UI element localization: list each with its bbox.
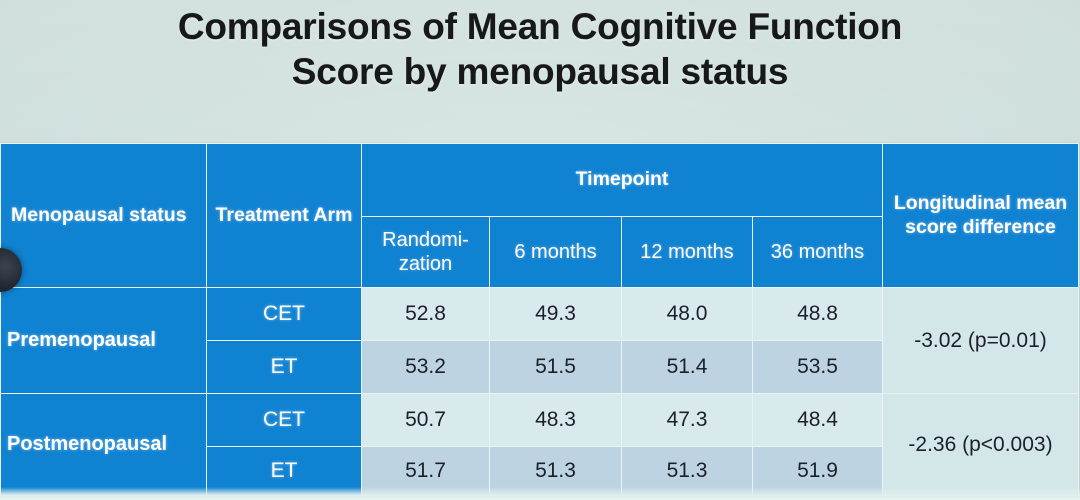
cell-arm-postmenopausal-cet: CET: [207, 394, 362, 447]
cognitive-function-table: Menopausal status Treatment Arm Timepoin…: [0, 143, 1079, 496]
cell-value: 51.9: [753, 447, 883, 496]
cell-difference-premenopausal: -3.02 (p=0.01): [883, 288, 1079, 394]
cell-value: 48.8: [753, 288, 883, 341]
cell-value: 51.4: [622, 341, 753, 394]
cell-value: 48.3: [490, 394, 622, 447]
cell-value: 53.2: [362, 341, 490, 394]
cell-value: 48.4: [753, 394, 883, 447]
cell-value: 52.8: [362, 288, 490, 341]
cognitive-function-table-container: Menopausal status Treatment Arm Timepoin…: [0, 143, 1080, 488]
cell-value: 47.3: [622, 394, 753, 447]
title-line-1: Comparisons of Mean Cognitive Function: [178, 6, 902, 47]
cell-arm-premenopausal-cet: CET: [207, 288, 362, 341]
header-timepoint-12-months: 12 months: [622, 217, 753, 288]
header-longitudinal-difference: Longitudinal mean score difference: [883, 144, 1079, 288]
table-header-row-top: Menopausal status Treatment Arm Timepoin…: [1, 144, 1079, 217]
cell-status-premenopausal: Premenopausal: [1, 288, 207, 394]
slide-title-container: Comparisons of Mean Cognitive Function S…: [0, 4, 1080, 94]
cell-value: 48.0: [622, 288, 753, 341]
cell-value: 51.3: [622, 447, 753, 496]
cell-arm-premenopausal-et: ET: [207, 341, 362, 394]
header-timepoint-randomization: Randomi-zation: [362, 217, 490, 288]
table-row: Premenopausal CET 52.8 49.3 48.0 48.8 -3…: [1, 288, 1079, 341]
cell-arm-postmenopausal-et: ET: [207, 447, 362, 496]
header-timepoint-36-months: 36 months: [753, 217, 883, 288]
cell-value: 50.7: [362, 394, 490, 447]
header-menopausal-status: Menopausal status: [1, 144, 207, 288]
cell-value: 49.3: [490, 288, 622, 341]
header-timepoint-randomization-label: Randomi-zation: [382, 229, 469, 275]
page-title: Comparisons of Mean Cognitive Function S…: [0, 4, 1080, 94]
cell-value: 51.5: [490, 341, 622, 394]
cell-value: 51.7: [362, 447, 490, 496]
table-row: Postmenopausal CET 50.7 48.3 47.3 48.4 -…: [1, 394, 1079, 447]
cell-status-postmenopausal: Postmenopausal: [1, 394, 207, 496]
cell-value: 51.3: [490, 447, 622, 496]
title-line-2: Score by menopausal status: [292, 51, 789, 92]
cell-difference-postmenopausal: -2.36 (p<0.003): [883, 394, 1079, 496]
header-timepoint-6-months: 6 months: [490, 217, 622, 288]
header-timepoint-group: Timepoint: [362, 144, 883, 217]
cell-value: 53.5: [753, 341, 883, 394]
header-treatment-arm: Treatment Arm: [207, 144, 362, 288]
